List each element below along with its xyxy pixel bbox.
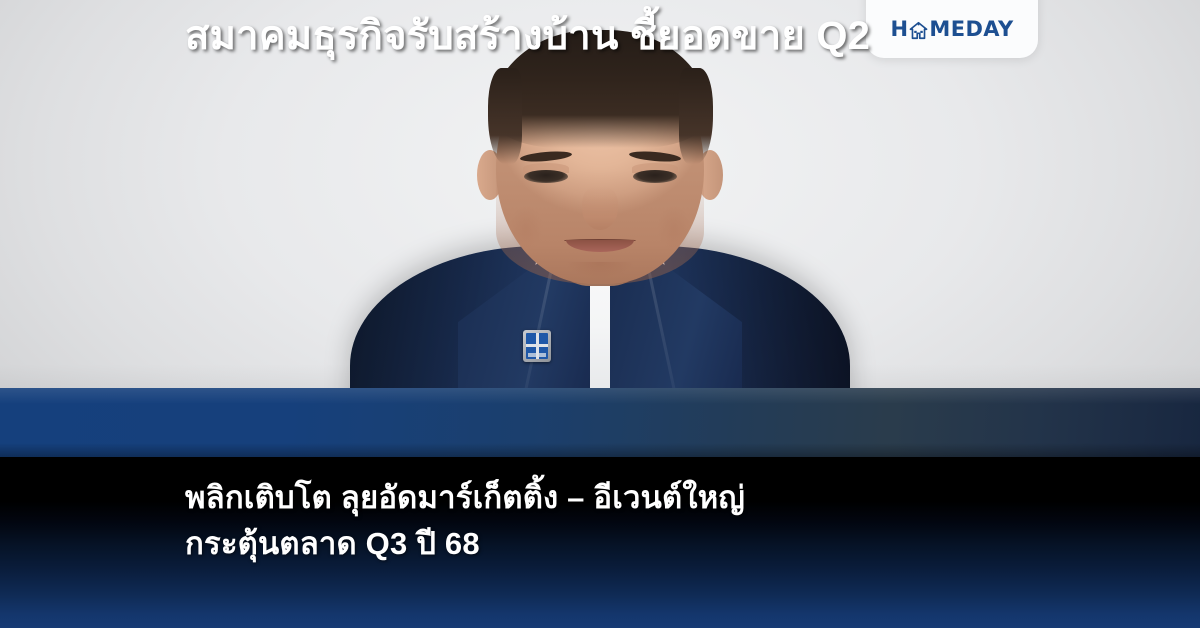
headline-band (0, 388, 1200, 457)
og-banner-image: H MEDAY สมาคมธุรกิจรับสร้างบ้าน ชี้ยอดขา… (0, 0, 1200, 628)
eye-left (524, 170, 568, 183)
headline-text: สมาคมธุรกิจรับสร้างบ้าน ชี้ยอดขาย Q2 (0, 0, 1200, 69)
subheadline-line-2: กระตุ้นตลาด Q3 ปี 68 (0, 518, 1200, 568)
hair-side-right (679, 68, 713, 164)
band-top-sheen (0, 388, 1200, 404)
cheek-left (509, 205, 543, 251)
hair-side-left (488, 68, 522, 164)
lapel-pin-cross-horizontal (526, 344, 548, 347)
lapel-pin-icon (523, 330, 551, 362)
band-bottom-shade (0, 443, 1200, 457)
lapel-pin-face (526, 333, 548, 359)
cheek-right (657, 205, 691, 251)
lapel-pin-bottom-bar (528, 353, 546, 357)
subheadline-line-1: พลิกเติบโต ลุยอัดมาร์เก็ตติ้ง – อีเวนต์ใ… (0, 472, 1200, 522)
nose (582, 186, 618, 230)
eye-right (633, 170, 677, 183)
chin-shading (565, 262, 635, 278)
